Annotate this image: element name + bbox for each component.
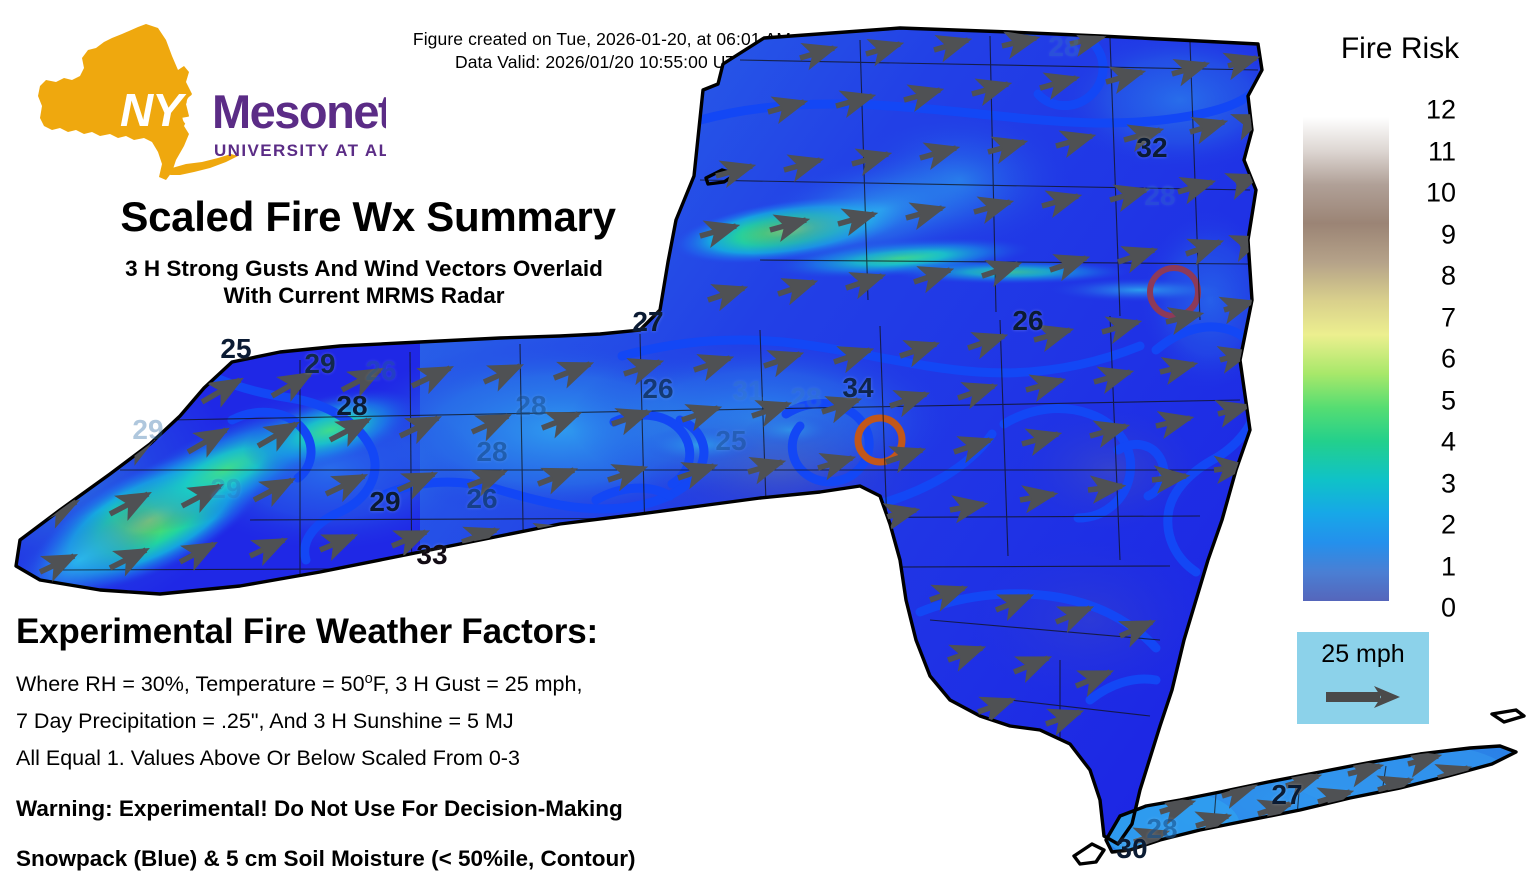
colorbar-tick-9: 9 (1441, 221, 1456, 248)
subtitle-line-1: 3 H Strong Gusts And Wind Vectors Overla… (34, 256, 694, 283)
gust-label: 28 (515, 390, 546, 422)
gust-label: 31 (732, 375, 763, 407)
colorbar-tick-6: 6 (1441, 346, 1456, 373)
colorbar-tick-11: 11 (1428, 138, 1456, 165)
gust-label: 29 (210, 473, 241, 505)
page-subtitle: 3 H Strong Gusts And Wind Vectors Overla… (34, 256, 694, 309)
gust-label: 34 (842, 372, 873, 404)
gust-label: 28 (476, 436, 507, 468)
footer-line-1a: Where RH = 30%, Temperature = 50 (16, 672, 365, 696)
gust-label: 28 (1146, 813, 1177, 845)
warning-line-2: Snowpack (Blue) & 5 cm Soil Moisture (< … (16, 841, 916, 877)
footer-line-1b: F, 3 H Gust = 25 mph, (373, 672, 583, 696)
colorbar-tick-7: 7 (1441, 304, 1456, 331)
fire-risk-colorbar (1303, 117, 1389, 601)
footer-line-2: 7 Day Precipitation = .25", And 3 H Suns… (16, 703, 916, 740)
gust-label: 29 (304, 348, 335, 380)
colorbar-tick-10: 10 (1426, 180, 1456, 207)
footer-line-3: All Equal 1. Values Above Or Below Scale… (16, 740, 916, 777)
gust-label: 29 (369, 486, 400, 518)
gust-label: 28 (1144, 180, 1175, 212)
gust-label: 26 (365, 355, 396, 387)
colorbar-tick-1: 1 (1441, 553, 1456, 580)
gust-label: 25 (220, 333, 251, 365)
gust-label: 27 (1271, 779, 1302, 811)
subtitle-line-2: With Current MRMS Radar (34, 283, 694, 310)
wind-vector-key: 25 mph (1297, 632, 1429, 724)
wind-key-label: 25 mph (1297, 640, 1429, 669)
colorbar-tick-3: 3 (1441, 470, 1456, 497)
colorbar-tick-0: 0 (1441, 595, 1456, 622)
gust-label: 26 (1012, 305, 1043, 337)
colorbar-tick-5: 5 (1441, 387, 1456, 414)
gust-label: 32 (1136, 132, 1167, 164)
colorbar-tick-4: 4 (1441, 429, 1456, 456)
gust-label: 26 (642, 373, 673, 405)
gust-label: 25 (715, 425, 746, 457)
colorbar-tick-12: 12 (1426, 97, 1456, 124)
page-title: Scaled Fire Wx Summary (48, 196, 688, 238)
colorbar-title: Fire Risk (1300, 32, 1500, 66)
gust-label: 28 (1048, 31, 1079, 63)
footer-heading: Experimental Fire Weather Factors: (16, 612, 916, 652)
footer-block: Experimental Fire Weather Factors: Where… (16, 612, 916, 878)
gust-label: 33 (416, 539, 447, 571)
gust-label: 30 (1116, 833, 1147, 865)
colorbar-tick-8: 8 (1441, 263, 1456, 290)
right-arrow-icon (1324, 684, 1404, 710)
gust-label: 28 (790, 382, 821, 414)
warning-line-1: Warning: Experimental! Do Not Use For De… (16, 791, 916, 827)
gust-label: 28 (336, 390, 367, 422)
colorbar-tick-labels: 1211109876543210 (1418, 110, 1478, 608)
gust-label: 29 (132, 414, 163, 446)
gust-label: 26 (466, 483, 497, 515)
degree-symbol: o (365, 671, 373, 687)
colorbar-tick-2: 2 (1441, 512, 1456, 539)
gust-label: 27 (632, 306, 663, 338)
footer-line-1: Where RH = 30%, Temperature = 50oF, 3 H … (16, 666, 916, 703)
